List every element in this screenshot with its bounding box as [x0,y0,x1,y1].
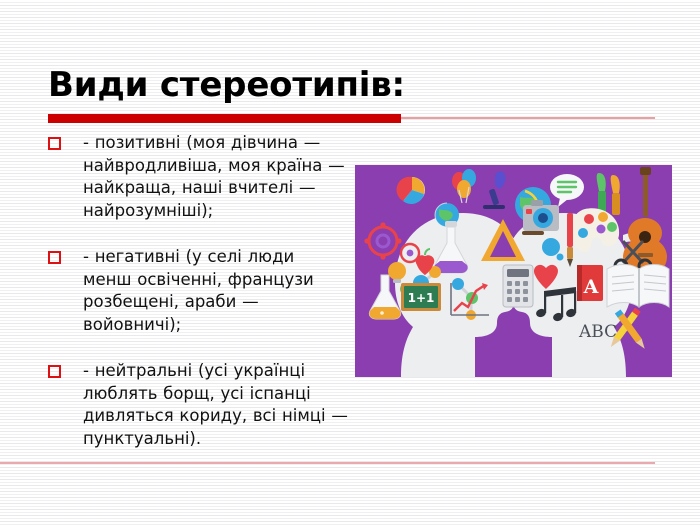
bottom-divider-rule [0,462,655,464]
square-outline-bullet-icon [48,251,61,264]
list-item: - нейтральні (усі українці люблять борщ,… [48,360,348,450]
title-rule-thick-segment [48,114,401,123]
title-block: Види стереотипів: [48,64,668,106]
list-item: - позитивні (моя дівчина — найвродливіша… [48,132,348,222]
red-book-label: A [583,276,599,298]
square-outline-bullet-icon [48,137,61,150]
title-underline-rule [48,114,655,123]
abc-text: ABC [578,322,617,342]
square-outline-bullet-icon [48,365,61,378]
list-item: - негативні (у селі люди менш освіченні,… [48,246,348,336]
blackboard-icon: 1+1 [401,283,441,311]
title-rule-thin-segment [401,117,655,119]
blackboard-label: 1+1 [408,291,435,305]
page-title: Види стереотипів: [48,64,668,106]
red-book-icon: A [577,265,603,301]
list-item-label: - нейтральні (усі українці люблять борщ,… [83,360,348,450]
list-item-label: - негативні (у селі люди менш освіченні,… [83,246,348,336]
bullet-list: - позитивні (моя дівчина — найвродливіша… [48,132,348,450]
slide-canvas: Види стереотипів: - позитивні (моя дівчи… [0,0,700,525]
calculator-icon [503,265,533,307]
abc-label: ABC [578,322,617,342]
illustration-image: 1+1 [355,165,672,377]
open-book-icon [607,265,669,308]
list-item-label: - позитивні (моя дівчина — найвродливіша… [83,132,348,222]
